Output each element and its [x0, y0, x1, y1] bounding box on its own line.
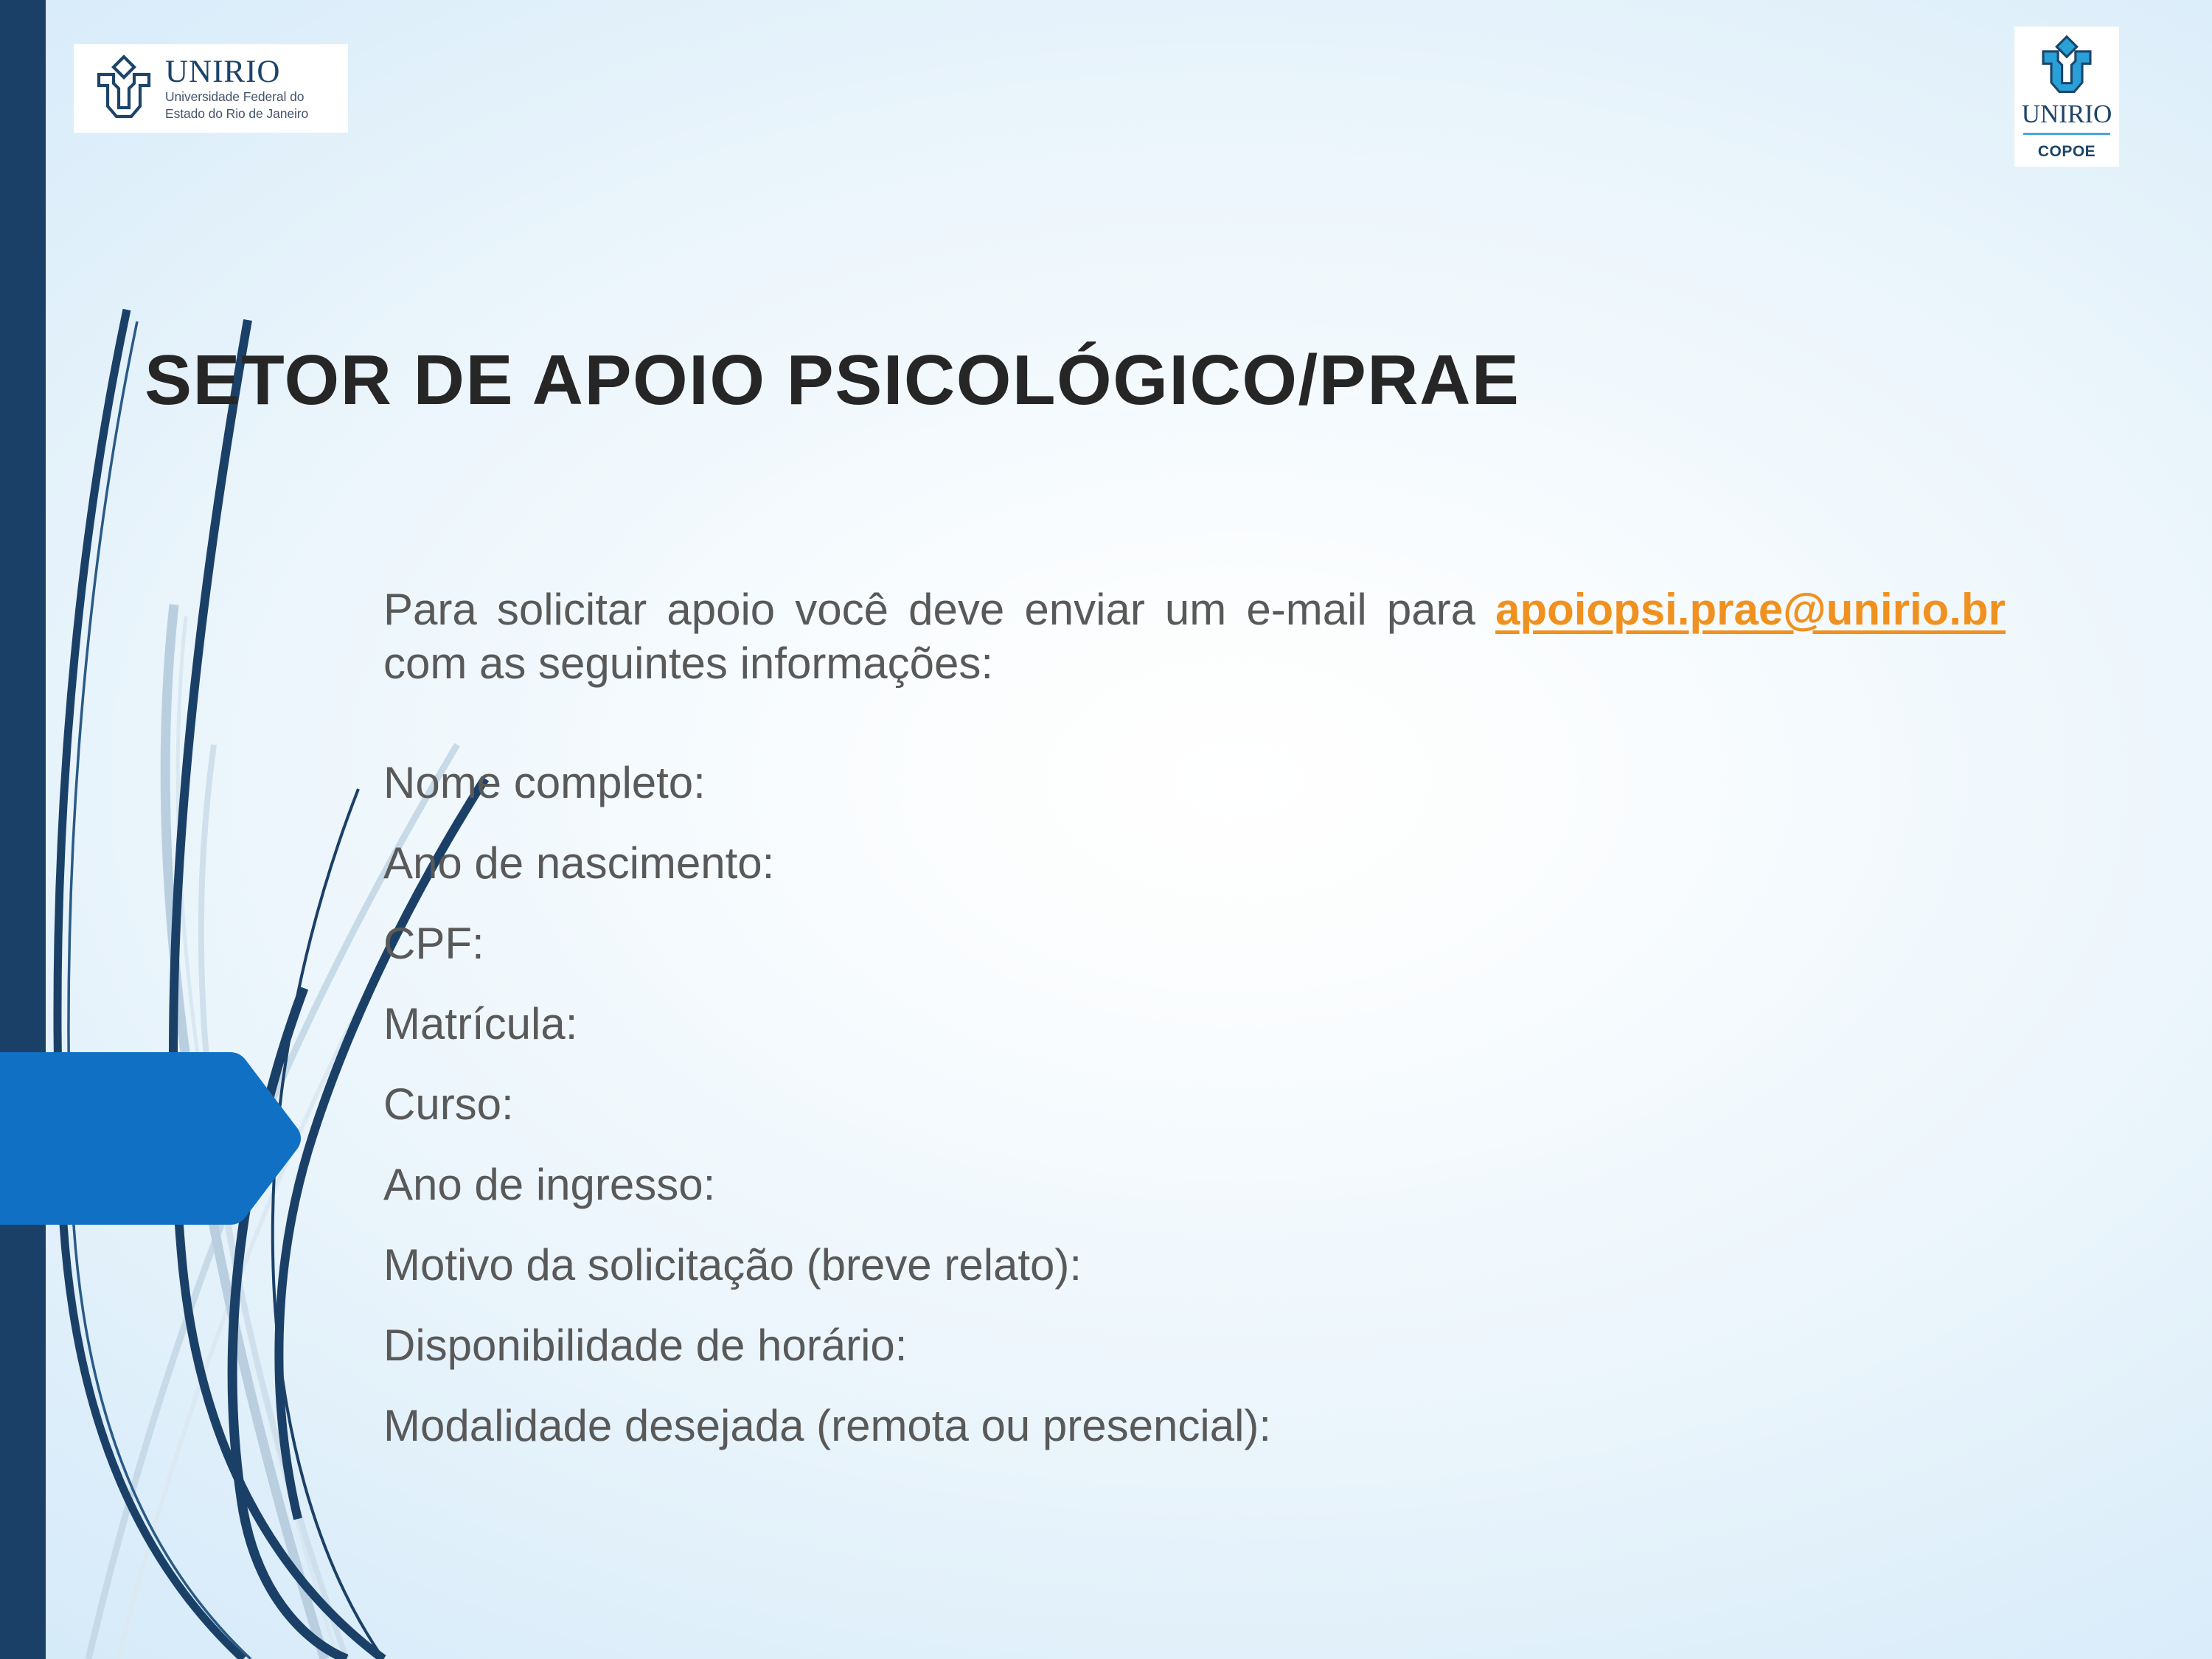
- list-item: Ano de nascimento:: [383, 841, 2006, 886]
- copoe-logo: UNIRIO COPOE: [2014, 27, 2119, 167]
- unirio-wordmark: UNIRIO: [165, 56, 308, 88]
- list-item: Nome completo:: [383, 761, 2006, 805]
- intro-text-after: com as seguintes informações:: [383, 639, 993, 688]
- unirio-subtitle-line2: Estado do Rio de Janeiro: [165, 106, 308, 121]
- list-item: Ano de ingresso:: [383, 1163, 2006, 1207]
- email-link[interactable]: apoiopsi.prae@unirio.br: [1495, 585, 2006, 634]
- copoe-unit-label: COPOE: [2038, 143, 2096, 161]
- page-title: SETOR DE APOIO PSICOLÓGICO/PRAE: [145, 344, 2076, 418]
- slide-canvas: UNIRIO Universidade Federal do Estado do…: [0, 0, 2212, 1659]
- list-item: Modalidade desejada (remota ou presencia…: [383, 1404, 2006, 1448]
- unirio-logo: UNIRIO Universidade Federal do Estado do…: [74, 44, 348, 133]
- list-item: Disponibilidade de horário:: [383, 1324, 2006, 1368]
- intro-paragraph: Para solicitar apoio você deve enviar um…: [383, 582, 2006, 690]
- intro-text-before: Para solicitar apoio você deve enviar um…: [383, 585, 1495, 634]
- copoe-unirio-wordmark: UNIRIO: [2022, 101, 2112, 127]
- list-item: Curso:: [383, 1082, 2006, 1127]
- list-item: CPF:: [383, 922, 2006, 966]
- unirio-subtitle-line1: Universidade Federal do: [165, 89, 308, 104]
- right-pointing-arrow-banner-icon: [0, 1046, 302, 1231]
- list-item: Matrícula:: [383, 1002, 2006, 1046]
- unirio-crest-icon: [2036, 32, 2098, 100]
- requested-fields-list: Nome completo: Ano de nascimento: CPF: M…: [383, 761, 2006, 1448]
- slide-body: Para solicitar apoio você deve enviar um…: [383, 582, 2006, 1484]
- list-item: Motivo da solicitação (breve relato):: [383, 1243, 2006, 1287]
- left-navy-bar: [0, 0, 46, 1659]
- unirio-crest-icon: [90, 53, 158, 124]
- copoe-divider: [2023, 133, 2110, 135]
